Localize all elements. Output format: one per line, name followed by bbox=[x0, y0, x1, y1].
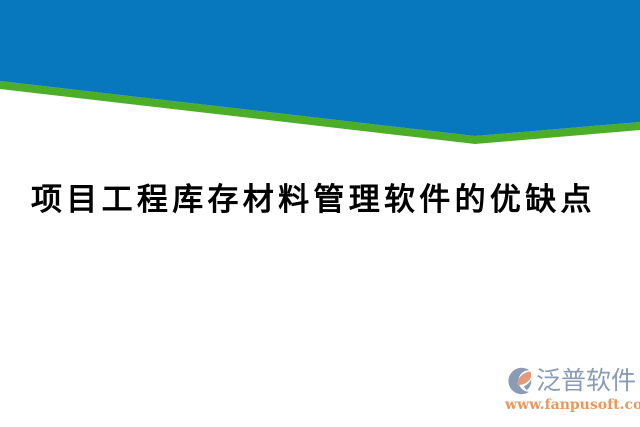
brand-logo: 泛普软件 www.fanpusoft.com bbox=[503, 364, 637, 418]
brand-logo-row: 泛普软件 bbox=[503, 364, 637, 398]
brand-url: www.fanpusoft.com bbox=[505, 397, 637, 414]
page-title: 项目工程库存材料管理软件的优缺点 bbox=[31, 180, 631, 220]
brand-wordmark: 泛普软件 bbox=[536, 367, 636, 395]
fanpu-circle-icon bbox=[503, 365, 535, 397]
banner-blue-shape bbox=[0, 0, 640, 136]
decorative-banner bbox=[0, 0, 640, 160]
slide-canvas: 项目工程库存材料管理软件的优缺点 泛普软件 www.fanpusoft.com bbox=[0, 0, 640, 427]
